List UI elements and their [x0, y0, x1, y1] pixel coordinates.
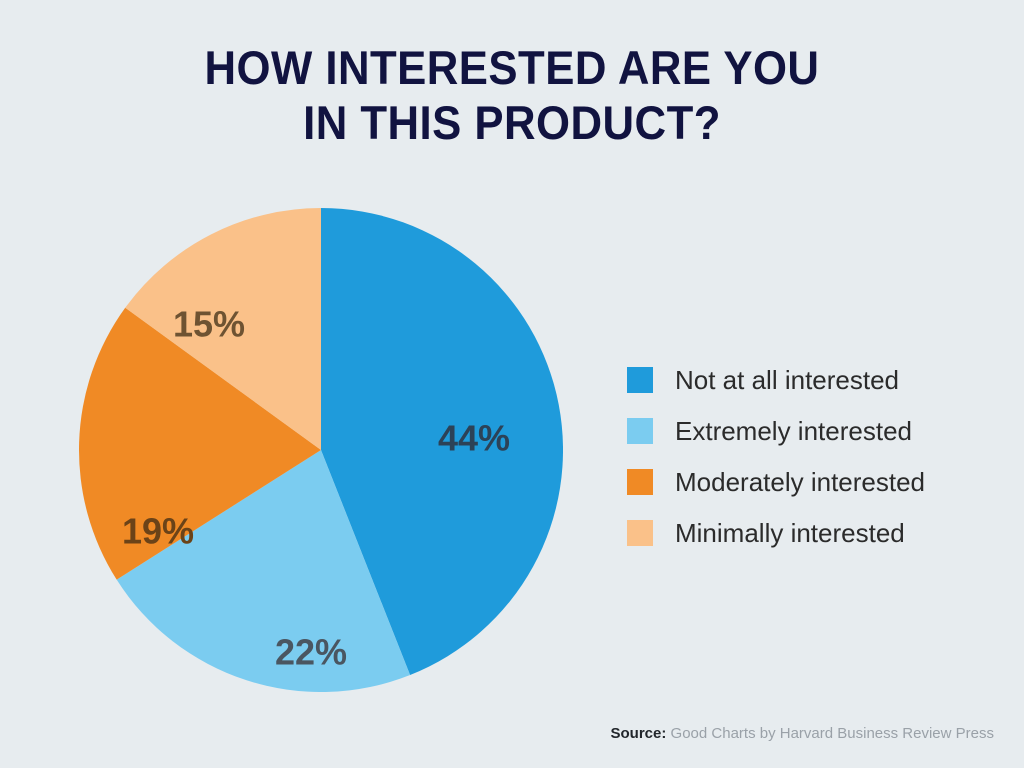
- legend-item-extremely-interested[interactable]: Extremely interested: [627, 405, 925, 456]
- legend-swatch-icon: [627, 367, 653, 393]
- source-prefix: Source:: [611, 725, 667, 742]
- legend-swatch-icon: [627, 520, 653, 546]
- legend-item-label: Not at all interested: [675, 367, 899, 393]
- pie-slice-label-moderately-interested: 19%: [122, 511, 194, 552]
- pie-chart: 44% 22% 19% 15%: [79, 208, 563, 692]
- legend-item-label: Moderately interested: [675, 469, 925, 495]
- legend-item-not-at-all-interested[interactable]: Not at all interested: [627, 354, 925, 405]
- page-title: HOW INTERESTED ARE YOU IN THIS PRODUCT?: [36, 40, 988, 150]
- pie-chart-svg: 44% 22% 19% 15%: [79, 208, 563, 692]
- source-text: Good Charts by Harvard Business Review P…: [671, 725, 994, 742]
- pie-slice-label-extremely-interested: 22%: [275, 632, 347, 673]
- pie-slice-label-minimally-interested: 15%: [173, 304, 245, 345]
- legend-swatch-icon: [627, 469, 653, 495]
- source-attribution: Source: Good Charts by Harvard Business …: [611, 725, 995, 742]
- legend-item-minimally-interested[interactable]: Minimally interested: [627, 507, 925, 558]
- legend-item-label: Minimally interested: [675, 520, 905, 546]
- chart-legend: Not at all interested Extremely interest…: [627, 354, 925, 558]
- legend-item-moderately-interested[interactable]: Moderately interested: [627, 456, 925, 507]
- legend-swatch-icon: [627, 418, 653, 444]
- legend-item-label: Extremely interested: [675, 418, 912, 444]
- pie-slice-label-not-at-all-interested: 44%: [438, 418, 510, 459]
